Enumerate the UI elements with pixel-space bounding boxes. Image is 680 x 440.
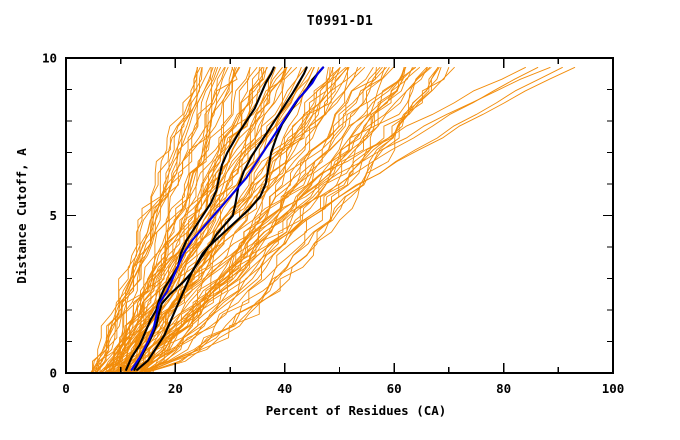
- y-tick-label: 10: [42, 51, 57, 66]
- model-curve: [129, 67, 358, 373]
- x-tick-label: 0: [62, 381, 70, 396]
- other-model-curves: [91, 67, 575, 373]
- x-axis-label: Percent of Residues (CA): [266, 403, 447, 418]
- model-curve: [135, 67, 389, 373]
- plot-canvas: 0204060801000510 Percent of Residues (CA…: [0, 0, 680, 440]
- y-axis-label: Distance Cutoff, A: [14, 148, 29, 284]
- x-tick-label: 80: [496, 381, 511, 396]
- x-tick-label: 40: [277, 381, 292, 396]
- model-curve: [119, 67, 313, 373]
- model-curve: [120, 67, 315, 373]
- chart-figure: T0991-D1 0204060801000510 Percent of Res…: [0, 0, 680, 440]
- x-tick-label: 20: [168, 381, 183, 396]
- model-curve-outlier: [144, 67, 562, 373]
- y-tick-label: 0: [49, 366, 57, 381]
- x-tick-label: 60: [387, 381, 402, 396]
- x-tick-label: 100: [602, 381, 625, 396]
- y-tick-label: 5: [49, 208, 57, 223]
